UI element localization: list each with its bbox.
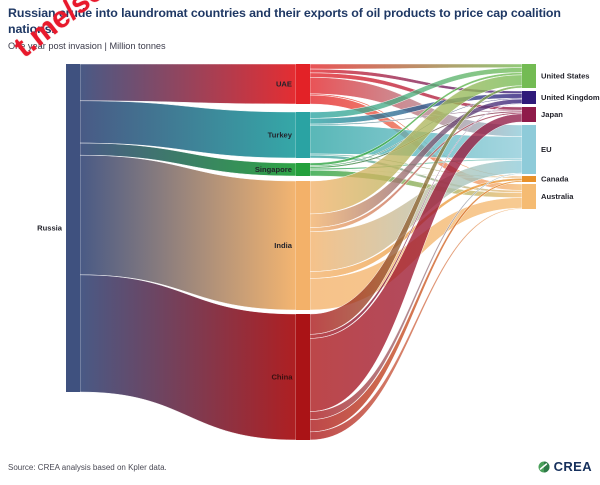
sankey-node-india[interactable] [296,181,310,310]
sankey-node-label-uk: United Kingdom [541,93,600,102]
sankey-node-label-india: India [274,241,292,250]
source-note: Source: CREA analysis based on Kpler dat… [8,463,167,472]
sankey-node-eu[interactable] [522,125,536,174]
sankey-node-australia[interactable] [522,184,536,209]
sankey-node-canada[interactable] [522,176,536,182]
sankey-node-label-singapore: Singapore [255,165,292,174]
sankey-node-label-uae: UAE [276,80,292,89]
sankey-node-uk[interactable] [522,91,536,104]
sankey-node-us[interactable] [522,64,536,88]
sankey-node-label-russia: Russia [37,224,63,233]
sankey-node-russia[interactable] [66,64,80,392]
crea-logo-icon [538,461,550,473]
sankey-node-label-canada: Canada [541,175,569,184]
crea-logo: CREA [538,459,592,474]
sankey-node-uae[interactable] [296,64,310,104]
sankey-node-label-japan: Japan [541,110,563,119]
sankey-node-singapore[interactable] [296,163,310,176]
sankey-node-turkey[interactable] [296,112,310,158]
sankey-link [80,64,296,104]
sankey-node-label-australia: Australia [541,192,574,201]
sankey-diagram: RussiaUAETurkeySingaporeIndiaChinaUnited… [0,0,600,485]
sankey-node-label-eu: EU [541,145,552,154]
sankey-link [310,64,522,69]
sankey-node-label-us: United States [541,72,590,81]
crea-logo-text: CREA [554,459,592,474]
sankey-node-china[interactable] [296,314,310,440]
sankey-node-japan[interactable] [522,107,536,122]
sankey-node-label-turkey: Turkey [268,131,293,140]
sankey-node-label-china: China [271,373,293,382]
chart-page: Russian crude into laundromat countries … [0,0,600,485]
